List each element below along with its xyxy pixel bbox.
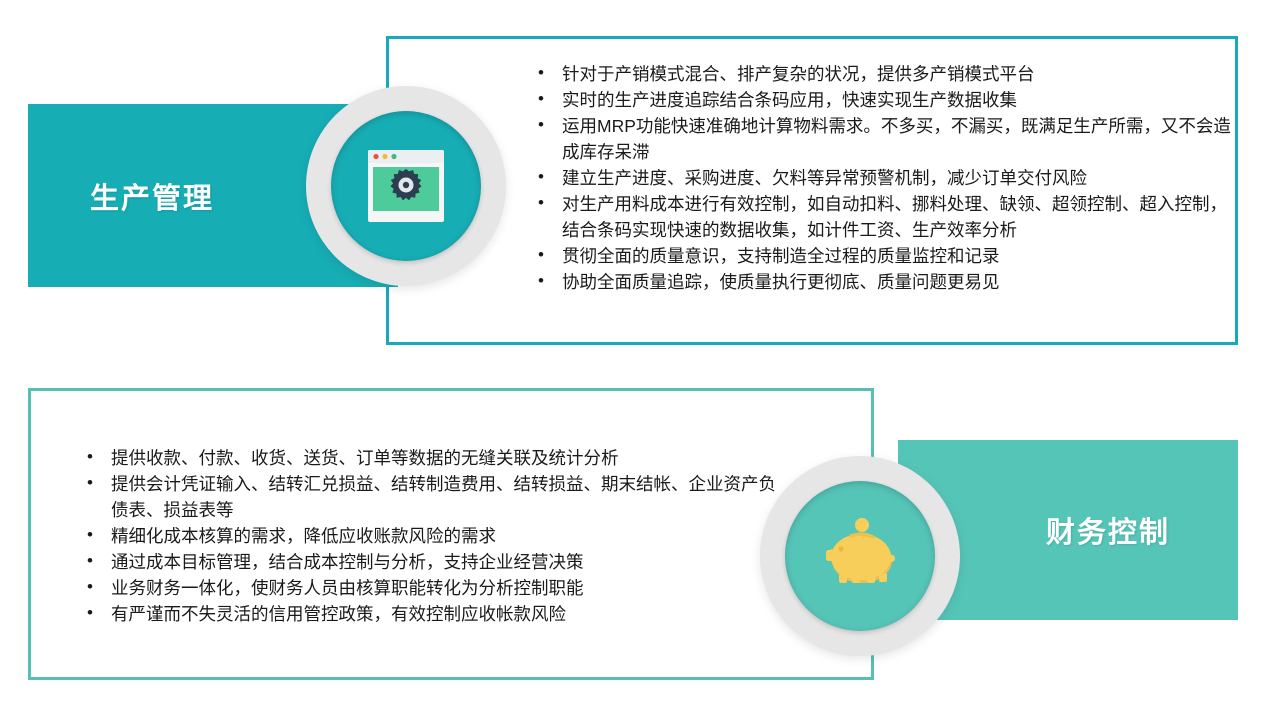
piggy-bank-icon (817, 516, 903, 596)
emblem-inner-finance (785, 481, 935, 631)
list-item: 精细化成本核算的需求，降低应收账款风险的需求 (83, 523, 783, 549)
textbox-production: 针对于产销模式混合、排产复杂的状况，提供多产销模式平台 实时的生产进度追踪结合条… (386, 36, 1238, 345)
list-item: 运用MRP功能快速准确地计算物料需求。不多买，不漏买，既满足生产所需，又不会造成… (534, 113, 1234, 165)
list-item: 提供会计凭证输入、结转汇兑损益、结转制造费用、结转损益、期末结帐、企业资产负债表… (83, 471, 783, 523)
list-item: 提供收款、付款、收货、送货、订单等数据的无缝关联及统计分析 (83, 445, 783, 471)
list-item: 通过成本目标管理，结合成本控制与分析，支持企业经营决策 (83, 549, 783, 575)
list-item: 针对于产销模式混合、排产复杂的状况，提供多产销模式平台 (534, 61, 1234, 87)
list-item: 对生产用料成本进行有效控制，如自动扣料、挪料处理、缺领、超领控制、超入控制，结合… (534, 191, 1234, 243)
list-item: 实时的生产进度追踪结合条码应用，快速实现生产数据收集 (534, 87, 1234, 113)
list-item: 有严谨而不失灵活的信用管控政策，有效控制应收帐款风险 (83, 601, 783, 627)
slide-canvas: 生产管理 针对于产销模式混合、排产复杂的状况，提供多产销模式平台 实时的生产进度… (0, 0, 1264, 710)
browser-gear-icon (367, 149, 445, 223)
list-item: 协助全面质量追踪，使质量执行更彻底、质量问题更易见 (534, 269, 1234, 295)
list-item: 业务财务一体化，使财务人员由核算职能转化为分析控制职能 (83, 575, 783, 601)
list-item: 建立生产进度、采购进度、欠料等异常预警机制，减少订单交付风险 (534, 165, 1234, 191)
emblem-finance[interactable] (760, 456, 960, 656)
emblem-production[interactable] (306, 86, 506, 286)
banner-label-finance: 财务控制 (1046, 509, 1170, 551)
emblem-inner-production (331, 111, 481, 261)
banner-label-production: 生产管理 (90, 175, 214, 217)
bullet-list-production: 针对于产销模式混合、排产复杂的状况，提供多产销模式平台 实时的生产进度追踪结合条… (534, 61, 1234, 295)
bullet-list-finance: 提供收款、付款、收货、送货、订单等数据的无缝关联及统计分析 提供会计凭证输入、结… (83, 445, 783, 627)
list-item: 贯彻全面的质量意识，支持制造全过程的质量监控和记录 (534, 243, 1234, 269)
textbox-finance: 提供收款、付款、收货、送货、订单等数据的无缝关联及统计分析 提供会计凭证输入、结… (28, 388, 874, 680)
